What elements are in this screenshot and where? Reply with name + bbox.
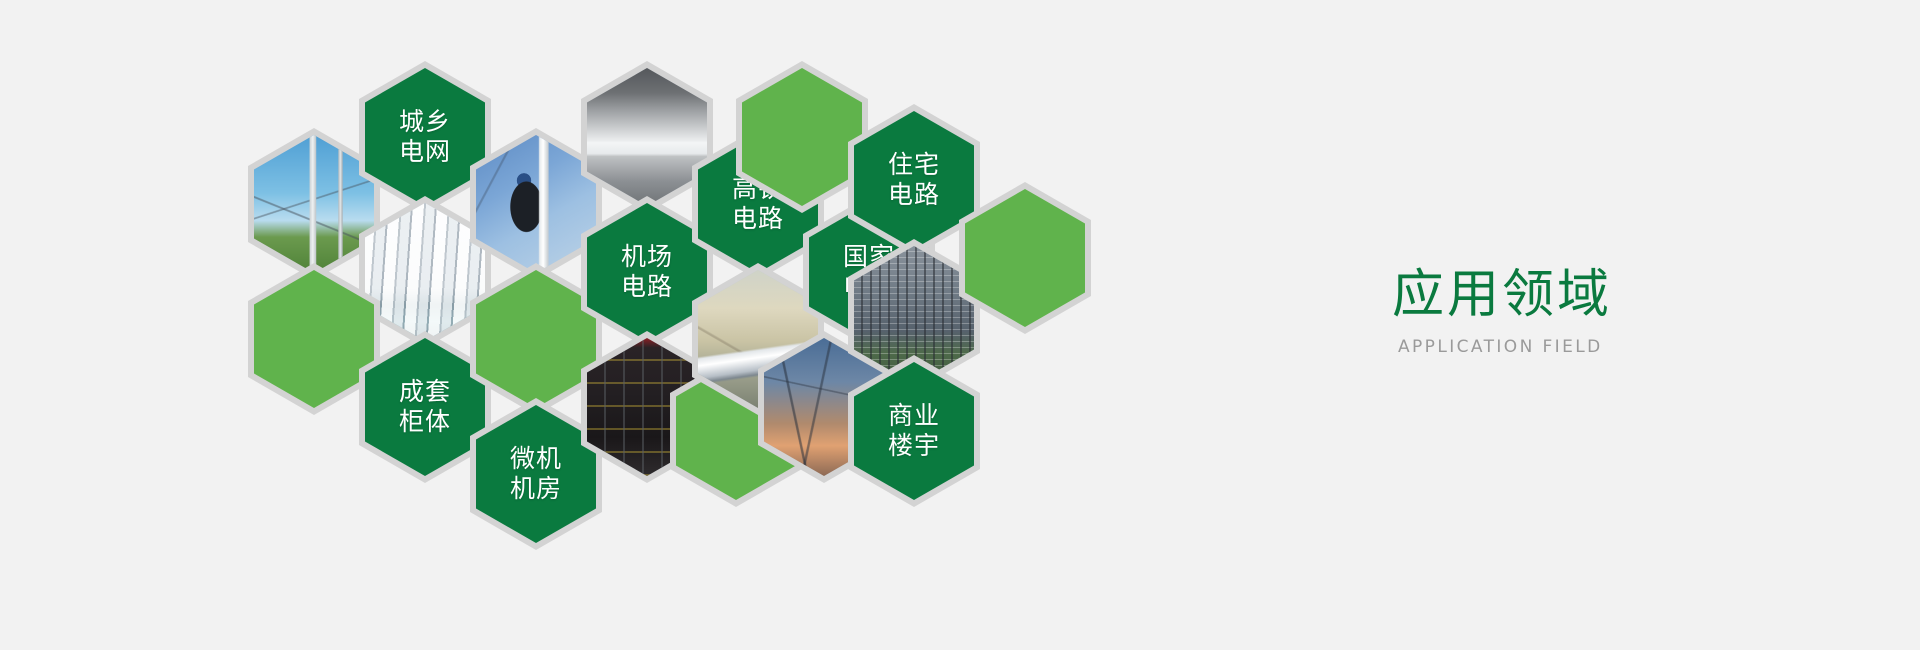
hex-label-airport-circuit: 机场 电路 <box>621 242 673 303</box>
application-field-banner: 城乡 电网成套 柜体微机 机房机场 电路高铁 电路国家 电网住宅 电路商业 楼宇… <box>0 0 1920 650</box>
hex-fill-cabinet-photo <box>365 203 485 341</box>
hex-fill-airport-circuit: 机场 电路 <box>587 203 707 341</box>
hex-fill-microcomputer-room: 微机 机房 <box>476 405 596 543</box>
hex-fill-green-left <box>254 270 374 408</box>
lineman-on-pole-image <box>476 135 596 273</box>
title-block: 应用领域 APPLICATION FIELD <box>1392 268 1832 357</box>
hex-fill-green-far-right <box>965 189 1085 327</box>
airport-apron-aircraft-image <box>587 68 707 206</box>
hex-label-microcomputer-room: 微机 机房 <box>510 444 562 505</box>
hex-fill-green-top-right <box>742 68 862 206</box>
hex-fill-green-mid-left <box>476 270 596 408</box>
utility-pole-substation-image <box>254 135 374 273</box>
switchgear-cabinet-row-image <box>365 203 485 341</box>
hex-fill-airport-photo <box>587 68 707 206</box>
hex-fill-residential-circuit: 住宅 电路 <box>854 111 974 249</box>
hex-fill-commercial-building: 商业 楼宇 <box>854 362 974 500</box>
hexagon-grid: 城乡 电网成套 柜体微机 机房机场 电路高铁 电路国家 电网住宅 电路商业 楼宇 <box>0 0 1300 650</box>
hex-label-commercial-building: 商业 楼宇 <box>888 401 940 462</box>
hex-fill-complete-cabinet: 成套 柜体 <box>365 338 485 476</box>
hex-fill-lineman-photo <box>476 135 596 273</box>
hex-fill-pole-photo <box>254 135 374 273</box>
page-subtitle: APPLICATION FIELD <box>1398 337 1832 357</box>
hex-fill-urban-rural-grid: 城乡 电网 <box>365 68 485 206</box>
hex-label-complete-cabinet: 成套 柜体 <box>399 377 451 438</box>
hex-label-urban-rural-grid: 城乡 电网 <box>399 107 451 168</box>
page-title: 应用领域 <box>1392 268 1832 323</box>
hex-label-residential-circuit: 住宅 电路 <box>888 150 940 211</box>
